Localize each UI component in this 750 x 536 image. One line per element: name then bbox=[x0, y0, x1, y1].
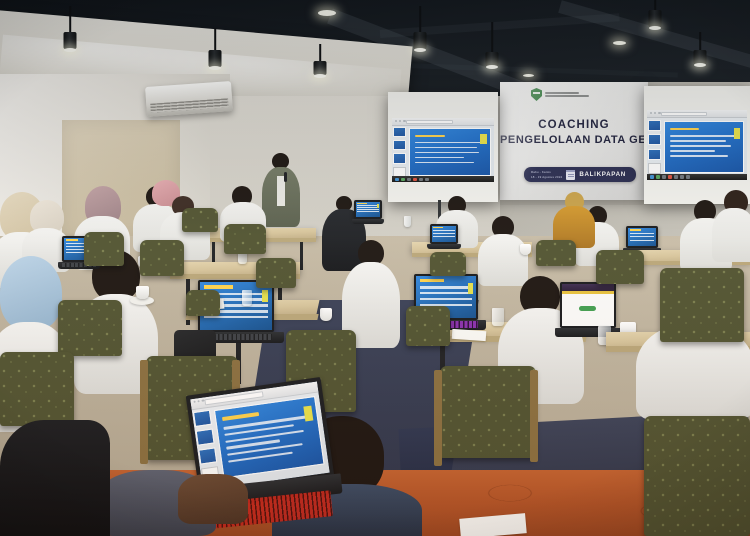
projected-slide bbox=[392, 118, 494, 182]
chair bbox=[430, 252, 466, 276]
attendee-torso bbox=[712, 208, 750, 262]
table-leg bbox=[300, 242, 303, 270]
slide-address-bar bbox=[661, 112, 707, 116]
chair bbox=[256, 258, 296, 288]
slide-content bbox=[409, 128, 491, 176]
drinking-glass bbox=[404, 216, 411, 227]
chair bbox=[596, 250, 644, 284]
event-banner: COACHING PENGELOLAAN DATA GEOSP Rabu - K… bbox=[500, 82, 648, 200]
wall-air-conditioner bbox=[145, 81, 233, 117]
drinking-glass bbox=[492, 308, 504, 326]
microphone bbox=[284, 172, 287, 182]
chair-frame bbox=[140, 360, 148, 464]
window-dots-icon bbox=[650, 112, 661, 114]
chair bbox=[406, 306, 450, 346]
yellow-highlight-block bbox=[734, 128, 740, 139]
chair bbox=[84, 232, 124, 266]
slide-heading-highlight bbox=[222, 412, 259, 421]
chair bbox=[140, 240, 184, 276]
slide-heading-highlight bbox=[415, 135, 444, 137]
attendee-hijab bbox=[0, 256, 62, 330]
chair bbox=[182, 208, 218, 232]
slide-browser-chrome bbox=[647, 110, 747, 118]
chair bbox=[644, 416, 750, 536]
chair-frame bbox=[434, 370, 442, 466]
slide-address-bar bbox=[204, 391, 263, 405]
slide-taskbar bbox=[647, 174, 747, 180]
right-projector-screen bbox=[644, 86, 750, 204]
slide-taskbar bbox=[392, 176, 494, 182]
chair bbox=[660, 268, 744, 342]
slide-address-bar bbox=[406, 120, 453, 124]
yellow-highlight-block bbox=[303, 405, 313, 421]
left-projector-screen bbox=[388, 92, 498, 202]
attendee-torso bbox=[0, 420, 110, 536]
banner-glare bbox=[500, 82, 648, 200]
slide-browser-chrome bbox=[392, 118, 494, 126]
recessed-downlight bbox=[613, 41, 626, 45]
chair bbox=[536, 240, 576, 266]
coffee-cup bbox=[320, 308, 332, 321]
slide-thumbnail-rail bbox=[648, 120, 661, 175]
slide-content bbox=[214, 396, 325, 479]
coffee-cup bbox=[520, 244, 531, 255]
drinking-glass bbox=[242, 290, 252, 306]
chair bbox=[186, 290, 220, 316]
attendee-hands bbox=[178, 474, 248, 524]
window-dots-icon bbox=[193, 399, 204, 403]
chair bbox=[0, 352, 74, 426]
recessed-downlight bbox=[318, 10, 336, 16]
chair bbox=[224, 224, 266, 254]
chair bbox=[440, 366, 536, 458]
chair-frame bbox=[530, 370, 538, 462]
yellow-highlight-block bbox=[480, 134, 486, 144]
recessed-downlight bbox=[523, 74, 534, 77]
seminar-room-photo: COACHING PENGELOLAAN DATA GEOSP Rabu - K… bbox=[0, 0, 750, 536]
attendee-torso bbox=[478, 234, 528, 286]
slide-heading-highlight bbox=[670, 128, 699, 131]
window-dots-icon bbox=[395, 120, 406, 122]
slide-thumbnail-rail bbox=[393, 127, 406, 177]
slide-content bbox=[664, 121, 744, 174]
projected-slide bbox=[647, 110, 747, 180]
coffee-cup bbox=[136, 286, 149, 299]
chair bbox=[58, 300, 122, 356]
